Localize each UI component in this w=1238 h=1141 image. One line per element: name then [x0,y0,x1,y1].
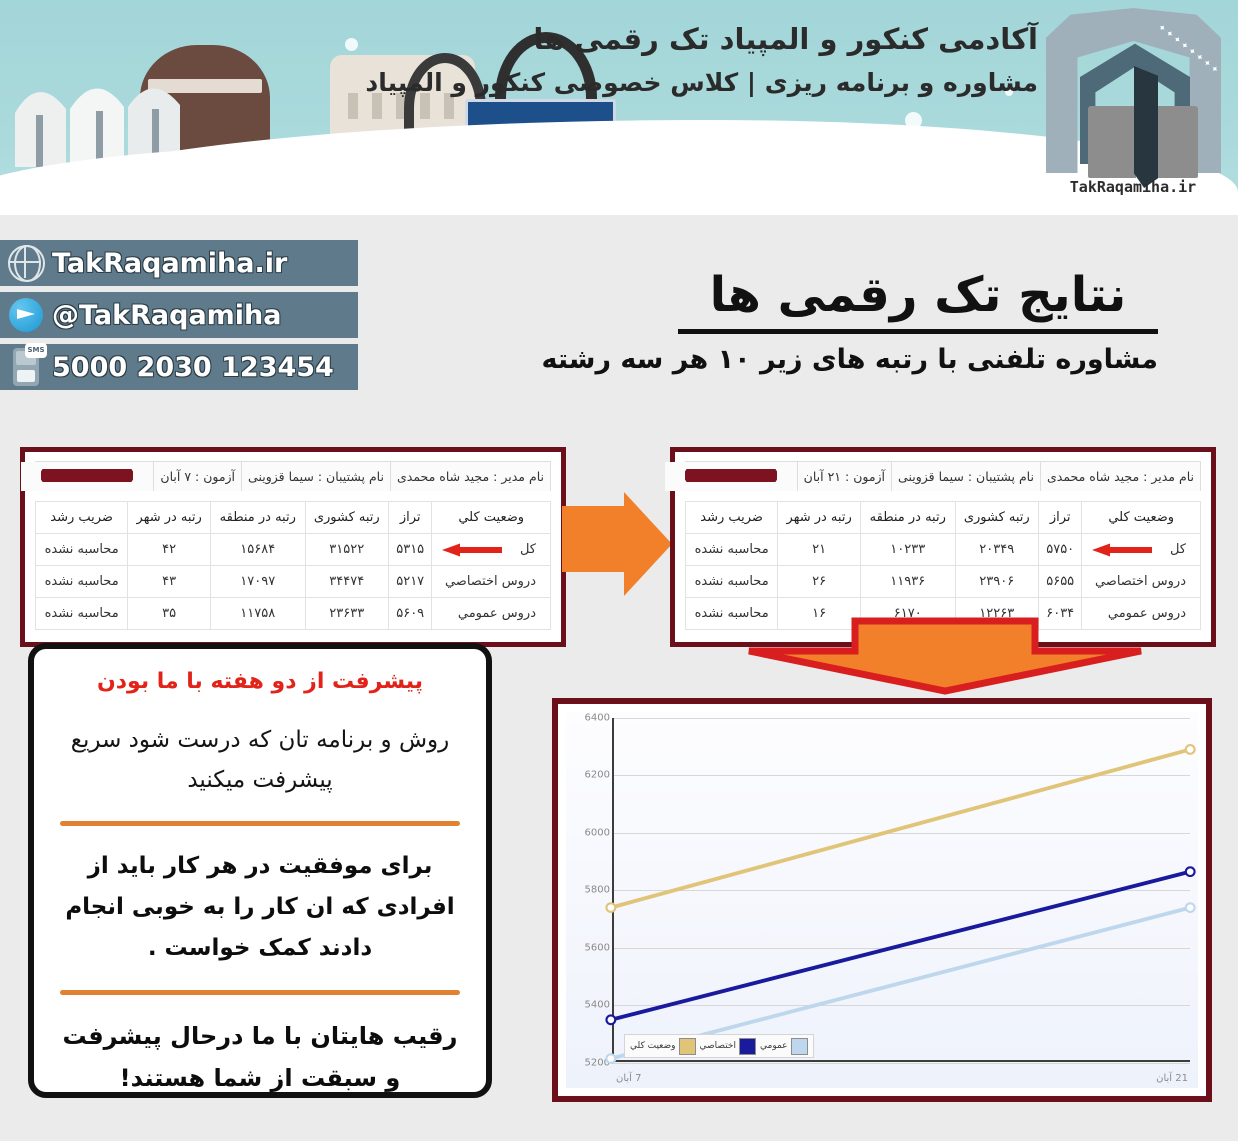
row-label: دروس اختصاصي [432,566,551,598]
page-subtitle: مشاوره تلفنی با رتبه های زیر ۱۰ هر سه رش… [678,344,1158,375]
table-row: کل ۵۳۱۵ ۳۱۵۲۲ ۱۵۶۸۴ ۴۲ محاسبه نشده [36,534,551,566]
advice-divider-1 [60,821,460,826]
cell-taraz: ۵۷۵۰ [1039,534,1082,566]
progress-chart-card: 5200540056005800600062006400 7 آبان 21 آ… [552,698,1212,1102]
table-row: دروس اختصاصي ۵۲۱۷ ۳۴۴۷۴ ۱۷۰۹۷ ۴۳ محاسبه … [36,566,551,598]
th-taraz: تراز [389,502,432,534]
cell-growth: محاسبه نشده [36,534,128,566]
advice-card: پیشرفت از دو هفته با ما بودن روش و برنام… [28,643,492,1098]
th-growth: ضریب رشد [686,502,778,534]
legend-swatch [791,1038,808,1055]
contact-website-text: TakRaqamiha.ir [52,248,287,279]
contact-strip: TakRaqamiha.ir @TakRaqamiha SMS 5000 203… [0,240,358,396]
cell-growth: محاسبه نشده [686,534,778,566]
row-label: دروس عمومي [432,598,551,630]
th-country-rank: رتبه کشوری [305,502,389,534]
highlight-arrow-icon [1092,543,1152,556]
th-city-rank: رتبه در شهر [778,502,861,534]
legend-swatch [739,1038,756,1055]
th-taraz: تراز [1039,502,1082,534]
th-growth: ضریب رشد [36,502,128,534]
chart-legend: عمومياختصاصيوضعیت کلي [624,1034,814,1058]
sms-badge: SMS [25,343,47,358]
cell-city: ۲۱ [778,534,861,566]
advice-divider-2 [60,990,460,995]
advice-paragraph-2: برای موفقیت در هر کار باید از افرادی که … [56,846,464,970]
th-region-rank: رتبه در منطقه [211,502,305,534]
row-label: کل [432,534,551,566]
cell-taraz: ۵۳۱۵ [389,534,432,566]
telegram-icon [0,298,52,332]
th-city-rank: رتبه در شهر [128,502,211,534]
cell-region: ۱۱۹۳۶ [861,566,955,598]
cell-city: ۴۳ [128,566,211,598]
table-header-row: وضعیت کلي تراز رتبه کشوری رتبه در منطقه … [686,502,1201,534]
table-header-row: وضعیت کلي تراز رتبه کشوری رتبه در منطقه … [36,502,551,534]
cell-region: ۱۵۶۸۴ [211,534,305,566]
highlight-arrow-icon [442,543,502,556]
legend-item[interactable]: اختصاصي [700,1038,756,1055]
orange-down-arrow-icon [745,617,1145,695]
legend-swatch [679,1038,696,1055]
header-banner: آکادمی کنکور و المپیاد تک رقمی ها مشاوره… [0,0,1238,215]
cell-region: ۱۰۲۳۳ [861,534,955,566]
cell-region: ۱۷۰۹۷ [211,566,305,598]
cell-taraz: ۵۶۵۵ [1039,566,1082,598]
result-table-exam-7-aban: نام مدیر : مجید شاه محمدی نام پشتیبان : … [20,447,566,647]
cell-growth: محاسبه نشده [36,566,128,598]
table-row: کل ۵۷۵۰ ۲۰۳۴۹ ۱۰۲۳۳ ۲۱ محاسبه نشده [686,534,1201,566]
cell-taraz: ۵۲۱۷ [389,566,432,598]
advice-paragraph-1: روش و برنامه تان که درست شود سریع پیشرفت… [56,720,464,801]
banner-title-block: آکادمی کنکور و المپیاد تک رقمی ها مشاوره… [365,22,1038,97]
table-row: دروس اختصاصي ۵۶۵۵ ۲۳۹۰۶ ۱۱۹۳۶ ۲۶ محاسبه … [686,566,1201,598]
logo-book-spine [1134,66,1158,188]
meta-manager: نام مدیر : مجید شاه محمدی [1040,462,1200,491]
chart-line-اختصاصي [611,872,1190,1020]
page-title: نتایج تک رقمی ها [678,268,1158,323]
legend-label: عمومي [760,1041,788,1051]
row-label: کل [1082,534,1201,566]
cell-country: ۲۳۹۰۶ [955,566,1039,598]
meta-supporter: نام پشتیبان : سیما قزوینی [891,462,1040,491]
cell-growth: محاسبه نشده [686,566,778,598]
cell-taraz: ۵۶۰۹ [389,598,432,630]
building-left-arches [10,57,185,167]
logo-text: TakRaqamiha.ir [1038,178,1228,196]
table-meta-row: نام مدیر : مجید شاه محمدی نام پشتیبان : … [685,461,1201,491]
meta-supporter: نام پشتیبان : سیما قزوینی [241,462,390,491]
row-label: دروس اختصاصي [1082,566,1201,598]
cell-region: ۱۱۷۵۸ [211,598,305,630]
meta-student-redacted [21,462,153,491]
banner-title-line2: مشاوره و برنامه ریزی | کلاس خصوصی کنکور … [365,68,1038,97]
meta-exam-date: آزمون : ۷ آبان [153,462,241,491]
table-row: دروس عمومي ۵۶۰۹ ۲۳۶۳۳ ۱۱۷۵۸ ۳۵ محاسبه نش… [36,598,551,630]
redaction-bar [685,470,777,481]
globe-icon [0,245,52,282]
chart-data-point [1186,867,1195,876]
chart-plot-area: 5200540056005800600062006400 7 آبان 21 آ… [566,712,1198,1088]
chart-data-point [606,903,615,912]
chart-data-point [1186,745,1195,754]
orange-right-arrow-icon [562,492,672,600]
meta-student-redacted [665,462,797,491]
decorative-bubble [345,38,358,51]
page-title-block: نتایج تک رقمی ها مشاوره تلفنی با رتبه ها… [678,268,1158,375]
th-status: وضعیت کلي [432,502,551,534]
contact-sms-text: 5000 2030 123454 [52,352,334,383]
contact-telegram-row[interactable]: @TakRaqamiha [0,292,358,338]
logo-book-left [1088,106,1136,178]
chart-x-label-start: 7 آبان [616,1073,642,1084]
th-country-rank: رتبه کشوری [955,502,1039,534]
legend-label: وضعیت کلي [630,1041,676,1051]
results-table: وضعیت کلي تراز رتبه کشوری رتبه در منطقه … [685,501,1201,630]
chart-data-point [606,1015,615,1024]
cell-city: ۲۶ [778,566,861,598]
cell-country: ۲۳۶۳۳ [305,598,389,630]
cell-growth: محاسبه نشده [36,598,128,630]
th-region-rank: رتبه در منطقه [861,502,955,534]
th-status: وضعیت کلي [1082,502,1201,534]
contact-website-row[interactable]: TakRaqamiha.ir [0,240,358,286]
cell-country: ۳۱۵۲۲ [305,534,389,566]
cell-city: ۴۲ [128,534,211,566]
sms-phone-icon: SMS [0,348,52,386]
cell-city: ۳۵ [128,598,211,630]
brand-logo: ✦✦✦✦✦✦✦✦ TakRaqamiha.ir [1038,2,1228,202]
chart-x-label-end: 21 آبان [1156,1073,1188,1084]
chart-data-point [1186,903,1195,912]
table-meta-row: نام مدیر : مجید شاه محمدی نام پشتیبان : … [35,461,551,491]
banner-title-line1: آکادمی کنکور و المپیاد تک رقمی ها [365,22,1038,56]
meta-exam-date: آزمون : ۲۱ آبان [797,462,891,491]
advice-heading: پیشرفت از دو هفته با ما بودن [56,669,464,694]
chart-series-lines [566,712,1198,1088]
chart-line-وضعیت کلي [611,749,1190,907]
contact-sms-row[interactable]: SMS 5000 2030 123454 [0,344,358,390]
legend-item[interactable]: وضعیت کلي [630,1038,696,1055]
cell-country: ۳۴۴۷۴ [305,566,389,598]
redaction-bar [41,470,133,481]
cell-country: ۲۰۳۴۹ [955,534,1039,566]
legend-item[interactable]: عمومي [760,1038,808,1055]
title-divider [678,329,1158,334]
meta-manager: نام مدیر : مجید شاه محمدی [390,462,550,491]
chart-data-point [606,1054,615,1063]
results-table: وضعیت کلي تراز رتبه کشوری رتبه در منطقه … [35,501,551,630]
legend-label: اختصاصي [700,1041,736,1051]
contact-telegram-text: @TakRaqamiha [52,300,282,331]
advice-paragraph-3: رقیب هایتان با ما درحال پیشرفت و سبقت از… [56,1015,464,1099]
